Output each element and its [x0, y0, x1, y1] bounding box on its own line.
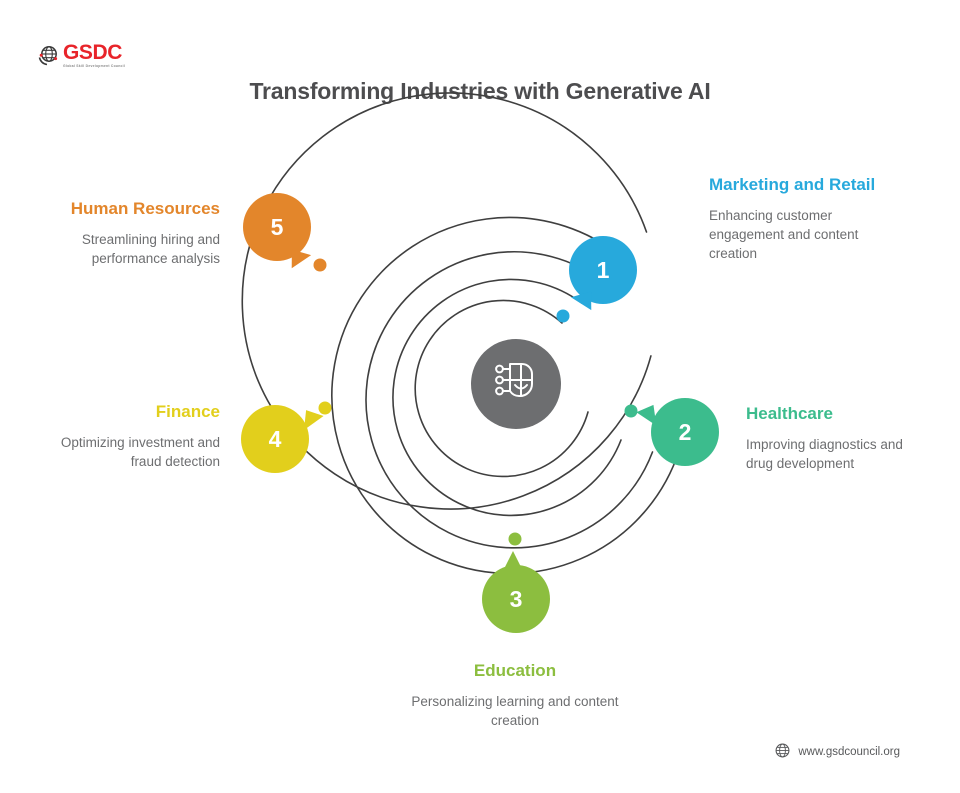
node-number-1: 1: [597, 257, 610, 284]
node-bubble-2[interactable]: 2: [651, 398, 719, 466]
node-block-education: Education Personalizing learning and con…: [395, 660, 635, 730]
diagram-stage: 1 2 3 4 5 Human Resources Streamlining h…: [0, 0, 960, 793]
center-hub: [471, 339, 561, 429]
dot-node-5: [314, 259, 327, 272]
node-title-marketing-and-retail: Marketing and Retail: [709, 174, 894, 197]
node-number-5: 5: [271, 214, 284, 241]
node-desc-finance: Optimizing investment and fraud detectio…: [40, 433, 220, 471]
dot-node-3: [509, 533, 522, 546]
node-block-healthcare: Healthcare Improving diagnostics and dru…: [746, 403, 931, 473]
bubble-tail-icon: [636, 405, 657, 428]
dot-node-1: [557, 310, 570, 323]
node-block-marketing-and-retail: Marketing and Retail Enhancing customer …: [709, 174, 894, 263]
node-bubble-4[interactable]: 4: [241, 405, 309, 473]
bubble-tail-icon: [304, 410, 324, 432]
node-title-finance: Finance: [40, 401, 220, 424]
node-number-2: 2: [679, 419, 692, 446]
node-title-human-resources: Human Resources: [30, 198, 220, 221]
node-block-human-resources: Human Resources Streamlining hiring and …: [30, 198, 220, 268]
globe-icon: [775, 743, 790, 761]
node-title-education: Education: [395, 660, 635, 683]
node-number-3: 3: [510, 586, 523, 613]
node-block-finance: Finance Optimizing investment and fraud …: [40, 401, 220, 471]
node-desc-healthcare: Improving diagnostics and drug developme…: [746, 435, 931, 473]
ai-brain-chip-icon: [490, 358, 542, 411]
node-title-healthcare: Healthcare: [746, 403, 931, 426]
node-number-4: 4: [269, 426, 282, 453]
node-bubble-3[interactable]: 3: [482, 565, 550, 633]
node-desc-marketing-and-retail: Enhancing customer engagement and conten…: [709, 206, 894, 263]
node-desc-human-resources: Streamlining hiring and performance anal…: [30, 230, 220, 268]
node-desc-education: Personalizing learning and content creat…: [395, 692, 635, 730]
website-url[interactable]: www.gsdcouncil.org: [798, 746, 900, 758]
node-bubble-5[interactable]: 5: [243, 193, 311, 261]
footer: www.gsdcouncil.org: [775, 743, 900, 761]
bubble-tail-icon: [504, 551, 522, 569]
node-bubble-1[interactable]: 1: [569, 236, 637, 304]
